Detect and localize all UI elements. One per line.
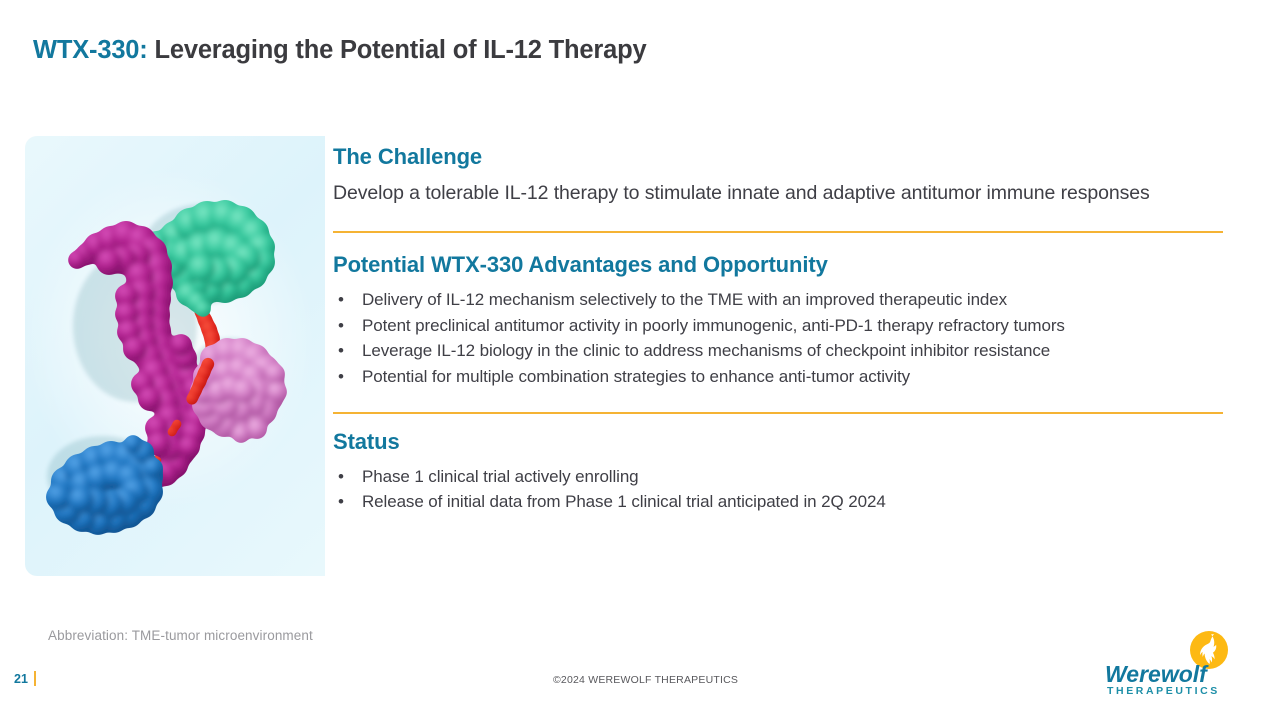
- spacer: [333, 207, 1223, 231]
- status-bullet-list: • Phase 1 clinical trial actively enroll…: [333, 464, 1223, 516]
- list-item: • Delivery of IL-12 mechanism selectivel…: [333, 287, 1223, 313]
- list-item-label: Delivery of IL-12 mechanism selectively …: [362, 290, 1007, 309]
- bullet-icon: •: [338, 464, 344, 490]
- spacer: [333, 233, 1223, 251]
- list-item: • Phase 1 clinical trial actively enroll…: [333, 464, 1223, 490]
- section-challenge: The Challenge Develop a tolerable IL-12 …: [333, 143, 1223, 207]
- list-item: • Release of initial data from Phase 1 c…: [333, 489, 1223, 515]
- advantages-bullet-list: • Delivery of IL-12 mechanism selectivel…: [333, 287, 1223, 390]
- figure-panel: [25, 136, 325, 576]
- content-column: The Challenge Develop a tolerable IL-12 …: [333, 143, 1223, 515]
- list-item-label: Potent preclinical antitumor activity in…: [362, 316, 1065, 335]
- page-title-accent: WTX-330:: [33, 36, 148, 64]
- page-number-rule-icon: [34, 671, 36, 686]
- bullet-icon: •: [338, 364, 344, 390]
- list-item: • Leverage IL-12 biology in the clinic t…: [333, 338, 1223, 364]
- bullet-icon: •: [338, 489, 344, 515]
- list-item-label: Potential for multiple combination strat…: [362, 367, 910, 386]
- page-number: 21: [14, 672, 28, 686]
- footnote-abbreviation: Abbreviation: TME-tumor microenvironment: [48, 628, 313, 643]
- list-item-label: Leverage IL-12 biology in the clinic to …: [362, 341, 1050, 360]
- bullet-icon: •: [338, 287, 344, 313]
- werewolf-therapeutics-logo: Werewolf THERAPEUTICS: [1097, 630, 1247, 698]
- page-title: WTX-330: Leveraging the Potential of IL-…: [33, 36, 646, 65]
- werewolf-logo-icon: Werewolf THERAPEUTICS: [1097, 630, 1247, 698]
- spacer: [333, 390, 1223, 412]
- list-item-label: Phase 1 clinical trial actively enrollin…: [362, 467, 639, 486]
- list-item-label: Release of initial data from Phase 1 cli…: [362, 492, 886, 511]
- logo-wordmark: Werewolf: [1105, 661, 1209, 687]
- wtx-330-protein-structure-image: [25, 136, 325, 576]
- page-number-group: 21: [14, 671, 36, 686]
- section-lead-challenge: Develop a tolerable IL-12 therapy to sti…: [333, 180, 1178, 208]
- section-status: Status • Phase 1 clinical trial actively…: [333, 428, 1223, 515]
- section-advantages: Potential WTX-330 Advantages and Opportu…: [333, 251, 1223, 390]
- spacer: [333, 414, 1223, 428]
- bullet-icon: •: [338, 313, 344, 339]
- bullet-icon: •: [338, 338, 344, 364]
- page-title-rest: Leveraging the Potential of IL-12 Therap…: [148, 36, 647, 64]
- logo-tagline: THERAPEUTICS: [1107, 685, 1220, 697]
- copyright-notice: ©2024 WEREWOLF THERAPEUTICS: [553, 674, 738, 686]
- section-heading-status: Status: [333, 428, 1223, 456]
- section-heading-challenge: The Challenge: [333, 143, 1223, 171]
- section-heading-advantages: Potential WTX-330 Advantages and Opportu…: [333, 251, 1223, 279]
- list-item: • Potential for multiple combination str…: [333, 364, 1223, 390]
- list-item: • Potent preclinical antitumor activity …: [333, 313, 1223, 339]
